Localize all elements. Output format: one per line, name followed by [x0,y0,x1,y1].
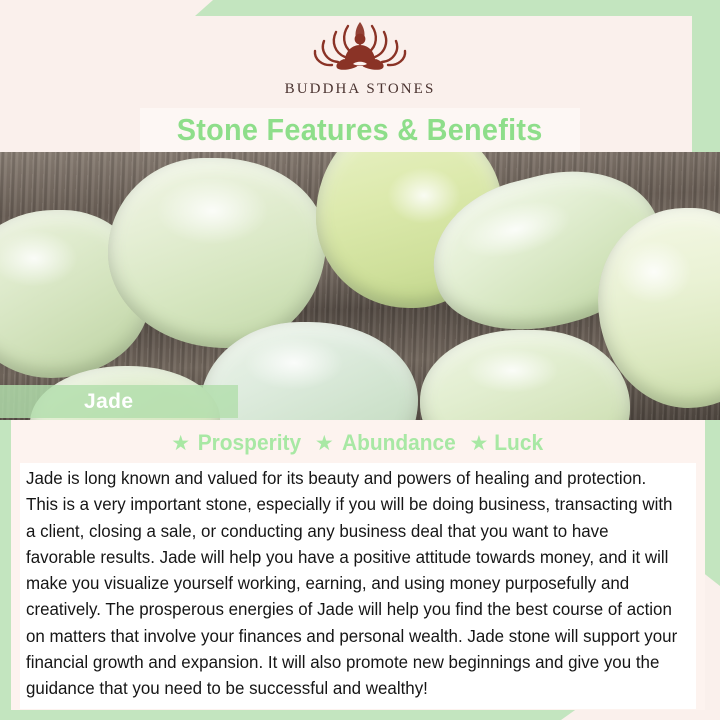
stone-photo [0,152,720,420]
benefit-label-abundance: Abundance [342,430,456,456]
description-panel: Jade is long known and valued for its be… [20,463,696,709]
content-panel: ★ Prosperity ★ Abundance ★ Luck Jade is … [11,420,705,710]
benefit-item: ★ Abundance [315,430,459,456]
page-title: Stone Features & Benefits [177,112,543,148]
benefit-label-prosperity: Prosperity [198,430,301,456]
star-icon: ★ [315,433,334,454]
benefit-label-luck: Luck [495,430,544,456]
star-icon: ★ [171,433,190,454]
stone-name-band: Jade [0,385,238,418]
stone-2 [108,158,326,348]
brand-name: BUDDHA STONES [285,81,436,98]
title-banner: Stone Features & Benefits [140,108,580,152]
decorative-band-left-text [0,420,11,720]
stone-name: Jade [84,390,133,414]
lotus-buddha-icon [304,13,416,79]
description-text: Jade is long known and valued for its be… [26,465,680,702]
stone-benefits-infographic: BUDDHA STONES Stone Features & Benefits [0,0,720,720]
benefit-item: ★ Luck [470,430,545,456]
benefit-item: ★ Prosperity [171,430,304,456]
star-icon: ★ [470,433,489,454]
brand-logo: BUDDHA STONES [0,0,720,110]
benefits-list: ★ Prosperity ★ Abundance ★ Luck [11,420,705,460]
